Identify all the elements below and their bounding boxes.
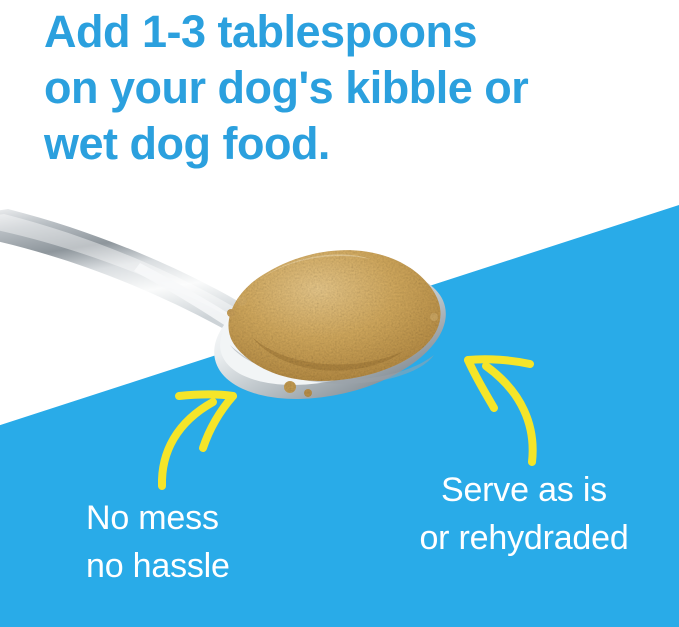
spoon-handle: [0, 209, 258, 341]
caption-serve-as-is: Serve as is or rehydraded: [398, 466, 650, 562]
page-title: Add 1-3 tablespoons on your dog's kibble…: [44, 4, 644, 172]
product-infographic: Add 1-3 tablespoons on your dog's kibble…: [0, 0, 679, 627]
caption-no-mess: No mess no hassle: [86, 494, 326, 590]
